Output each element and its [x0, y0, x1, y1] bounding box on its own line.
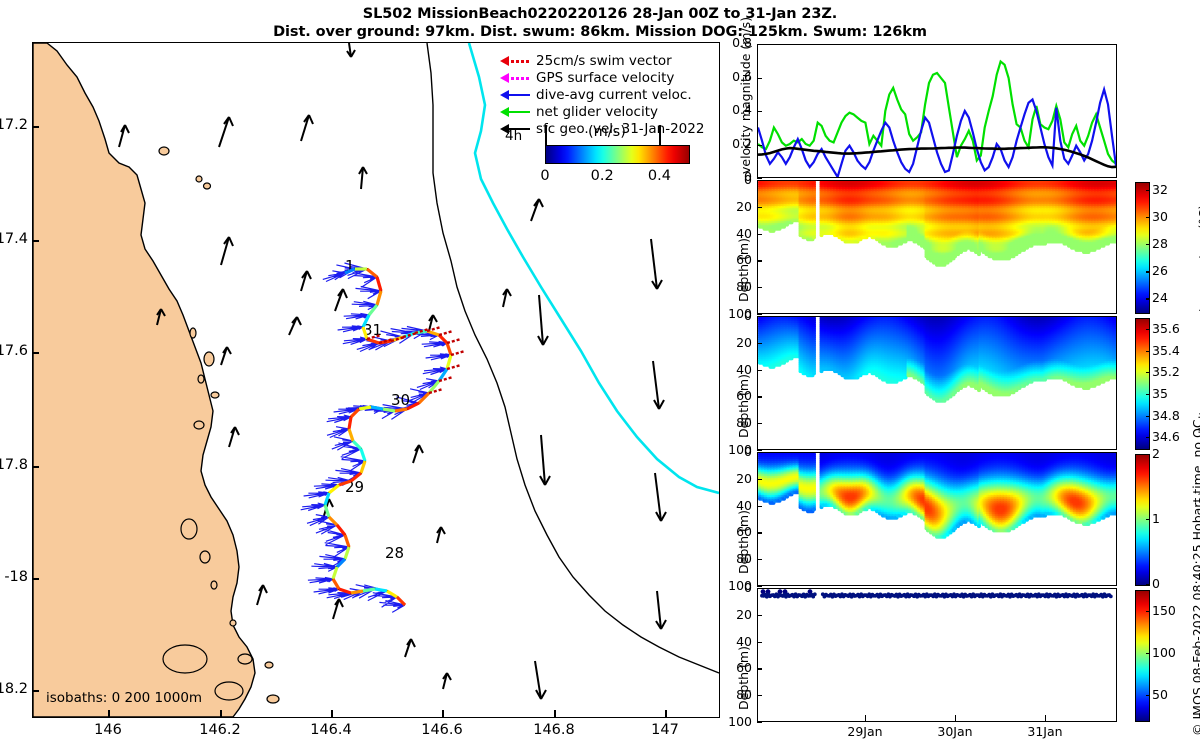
time-axis-tick-mark-2: [1045, 715, 1046, 721]
temperature-section-ytick-4: 80: [710, 279, 752, 294]
temperature-section-colorbar-tick-0: 24: [1152, 290, 1168, 305]
velocity-ytick-mark-2: [757, 111, 762, 112]
section-scatter: [758, 181, 1116, 267]
legend-item-label: 25cm/s swim vector: [532, 53, 672, 69]
map-colorbar-tick-1: 0.2: [582, 168, 622, 184]
temperature-section-colorbar-tick-4: 32: [1152, 182, 1168, 197]
chlorophyll-section-ytick-3: 60: [710, 524, 752, 539]
temperature-section-ytick-1: 20: [710, 199, 752, 214]
velocity-timeseries-plot: [758, 45, 1116, 177]
salinity-section-ytick-mark-1: [757, 343, 762, 344]
legend-arrow-icon: [500, 89, 532, 101]
chlorophyll-section-colorbar-tick-0: 0: [1152, 576, 1160, 591]
velocity-ytick-mark-4: [757, 44, 762, 45]
figure-root: SL502 MissionBeach0220220126 28-Jan 00Z …: [0, 0, 1200, 750]
map-ytick-1: 17.4: [0, 231, 28, 247]
temperature-section-ytick-3: 60: [710, 252, 752, 267]
figure-title-line1: SL502 MissionBeach0220220126 28-Jan 00Z …: [0, 6, 1200, 22]
chlorophyll-section-ytick-mark-5: [757, 586, 762, 587]
map-ytick-2: 17.6: [0, 343, 28, 359]
section-scatter: [760, 589, 1113, 598]
map-ytick-5: 18.2: [0, 681, 28, 697]
temperature-section-colorbar-tick-mark-4: [1146, 190, 1150, 191]
day-label-28: 28: [385, 544, 404, 562]
chlorophyll-section-ytick-mark-3: [757, 532, 762, 533]
velocity-ytick-3: 0.6: [712, 69, 752, 84]
legend-item-1[interactable]: GPS surface velocity: [500, 69, 700, 86]
oxygen-section-panel[interactable]: [757, 588, 1117, 722]
temperature-section-panel[interactable]: [757, 180, 1117, 314]
legend-item-2[interactable]: dive-avg current veloc.: [500, 86, 700, 103]
legend-arrow-icon: [500, 55, 532, 67]
time-axis-tick-0: 29Jan: [830, 724, 900, 739]
velocity-ytick-mark-0: [757, 178, 762, 179]
map-colorbar-pointer-0: [545, 125, 547, 145]
temperature-section-ytick-mark-5: [757, 314, 762, 315]
legend-arrow-icon: [500, 106, 532, 118]
map-ytick-4: -18: [0, 569, 28, 585]
glider-track: [301, 263, 451, 612]
map-xtick-2: 146.4: [296, 722, 366, 738]
velocity-ytick-mark-3: [757, 78, 762, 79]
legend-item-label: net glider velocity: [532, 104, 658, 120]
oxygen-section-ytick-mark-4: [757, 695, 762, 696]
isobaths-label: isobaths: 0 200 1000m: [46, 690, 202, 706]
temperature-section-colorbar-tick-1: 26: [1152, 263, 1168, 278]
temperature-section-colorbar-tick-mark-3: [1146, 217, 1150, 218]
oxygen-section-colorbar-tick-1: 100: [1152, 645, 1176, 660]
map-colorbar-tick-2: 0.4: [639, 168, 679, 184]
chlorophyll-section-colorbar-tick-mark-0: [1146, 584, 1150, 585]
temperature-section-colorbar-tick-2: 28: [1152, 236, 1168, 251]
dive-avg-current-fans: [301, 263, 451, 612]
temperature-section-plot: [758, 181, 1116, 313]
chlorophyll-section-ytick-mark-4: [757, 559, 762, 560]
map-xtick-1: 146.2: [185, 722, 255, 738]
map-colorbar-pointer-1: [659, 125, 661, 145]
salinity-section-colorbar-tick-5: 35.6: [1152, 321, 1180, 336]
section-scatter: [758, 453, 1116, 539]
velocity-ytick-1: 0.2: [712, 136, 752, 151]
temperature-section-ytick-0: 0: [710, 172, 752, 187]
salinity-section-colorbar-tick-mark-3: [1146, 372, 1150, 373]
chlorophyll-section-ytick-mark-0: [757, 452, 762, 453]
salinity-section-colorbar-tick-2: 35: [1152, 386, 1168, 401]
salinity-section-colorbar-tick-4: 35.4: [1152, 343, 1180, 358]
legend-item-label: GPS surface velocity: [532, 70, 674, 86]
oxygen-section-ytick-1: 20: [710, 607, 752, 622]
oxygen-section-ytick-mark-1: [757, 615, 762, 616]
salinity-section-colorbar-tick-mark-5: [1146, 329, 1150, 330]
chlorophyll-section-ytick-4: 80: [710, 551, 752, 566]
salinity-section-colorbar-tick-3: 35.2: [1152, 364, 1180, 379]
temperature-section-ytick-mark-3: [757, 260, 762, 261]
oxygen-section-ytick-5: 100: [710, 714, 752, 729]
legend-arrow-icon: [500, 72, 532, 84]
salinity-section-panel[interactable]: [757, 316, 1117, 450]
oxygen-section-colorbar-tick-0: 50: [1152, 687, 1168, 702]
map-xtick-4: 146.8: [519, 722, 589, 738]
oxygen-section-plot: [758, 589, 1116, 721]
oxygen-section-ytick-3: 60: [710, 660, 752, 675]
imos-credit: © IMOS 08-Feb-2022 08:40:25 Hobart time.…: [1190, 419, 1200, 736]
salinity-section-colorbar-tick-1: 34.8: [1152, 408, 1180, 423]
temperature-section-colorbar[interactable]: [1135, 182, 1150, 314]
salinity-section-colorbar[interactable]: [1135, 318, 1150, 450]
figure-title-line2: Dist. over ground: 97km. Dist. swum: 86k…: [0, 24, 1200, 40]
chlorophyll-section-ytick-mark-1: [757, 479, 762, 480]
velocity-timeseries-panel[interactable]: [757, 44, 1117, 178]
chlorophyll-section-ytick-1: 20: [710, 471, 752, 486]
map-ytick-0: 17.2: [0, 117, 28, 133]
salinity-section-ytick-mark-0: [757, 316, 762, 317]
salinity-section-ytick-2: 40: [710, 362, 752, 377]
map-ytick-3: 17.8: [0, 457, 28, 473]
salinity-section-ytick-3: 60: [710, 388, 752, 403]
salinity-section-ytick-mark-5: [757, 450, 762, 451]
oxygen-section-ytick-mark-5: [757, 722, 762, 723]
oxygen-section-colorbar-tick-mark-2: [1146, 611, 1150, 612]
temperature-section-ytick-mark-1: [757, 207, 762, 208]
time-axis-tick-1: 30Jan: [920, 724, 990, 739]
oxygen-section-ytick-mark-2: [757, 642, 762, 643]
velocity-ytick-mark-1: [757, 145, 762, 146]
salinity-section-colorbar-tick-mark-1: [1146, 416, 1150, 417]
map-xtick-5: 147: [630, 722, 700, 738]
salinity-section-ytick-4: 80: [710, 415, 752, 430]
legend-item-0[interactable]: 25cm/s swim vector: [500, 52, 700, 69]
oxygen-section-ytick-0: 0: [710, 580, 752, 595]
salinity-section-ytick-mark-3: [757, 396, 762, 397]
temperature-section-colorbar-label: temperature (°C): [1196, 205, 1200, 312]
map-xtick-0: 146: [73, 722, 143, 738]
chlorophyll-section-colorbar-tick-mark-2: [1146, 454, 1150, 455]
map-xtick-3: 146.6: [407, 722, 477, 738]
temperature-section-ytick-mark-2: [757, 234, 762, 235]
salinity-section-colorbar-tick-0: 34.6: [1152, 429, 1180, 444]
oxygen-section-ytick-mark-3: [757, 668, 762, 669]
section-scatter: [758, 317, 1116, 403]
day-label-30: 30: [391, 391, 410, 409]
salinity-section-ytick-mark-4: [757, 423, 762, 424]
oxygen-section-colorbar-tick-mark-0: [1146, 695, 1150, 696]
velocity-ytick-4: 0.8: [712, 35, 752, 50]
oxygen-section-ytick-mark-0: [757, 588, 762, 589]
land-polygon: [33, 43, 255, 717]
temperature-section-colorbar-tick-mark-0: [1146, 298, 1150, 299]
time-axis-tick-mark-0: [865, 715, 866, 721]
chlorophyll-section-ytick-mark-2: [757, 506, 762, 507]
oxygen-section-colorbar-tick-mark-1: [1146, 653, 1150, 654]
oxygen-section-ytick-4: 80: [710, 687, 752, 702]
chlorophyll-section-plot: [758, 453, 1116, 585]
temperature-section-colorbar-tick-mark-1: [1146, 271, 1150, 272]
chlorophyll-section-panel[interactable]: [757, 452, 1117, 586]
chlorophyll-section-colorbar-tick-1: 1: [1152, 511, 1160, 526]
salinity-section-colorbar-tick-mark-4: [1146, 351, 1150, 352]
temperature-section-colorbar-tick-mark-2: [1146, 244, 1150, 245]
temperature-section-colorbar-tick-3: 30: [1152, 209, 1168, 224]
legend-item-label: dive-avg current veloc.: [532, 87, 692, 103]
legend-item-3[interactable]: net glider velocity: [500, 103, 700, 120]
chlorophyll-section-ytick-2: 40: [710, 498, 752, 513]
salinity-section-ytick-0: 0: [710, 308, 752, 323]
time-axis-tick-mark-1: [955, 715, 956, 721]
chlorophyll-section-colorbar-tick-mark-1: [1146, 519, 1150, 520]
chlorophyll-section-ytick-0: 0: [710, 444, 752, 459]
salinity-section-colorbar-tick-mark-2: [1146, 394, 1150, 395]
map-colorbar-tick-0: 0: [525, 168, 565, 184]
velocity-ytick-2: 0.4: [712, 102, 752, 117]
salinity-section-plot: [758, 317, 1116, 449]
oxygen-section-ytick-2: 40: [710, 634, 752, 649]
oxygen-section-colorbar[interactable]: [1135, 590, 1150, 722]
salinity-section-ytick-mark-2: [757, 370, 762, 371]
time-axis-tick-2: 31Jan: [1010, 724, 1080, 739]
temperature-section-ytick-mark-0: [757, 180, 762, 181]
chlorophyll-section-colorbar-tick-2: 2: [1152, 446, 1160, 461]
salinity-section-ytick-1: 20: [710, 335, 752, 350]
map-colorbar-ticks: 00.20.4: [500, 135, 710, 185]
temperature-section-ytick-mark-4: [757, 287, 762, 288]
oxygen-section-colorbar-tick-2: 150: [1152, 603, 1176, 618]
salinity-section-colorbar-tick-mark-0: [1146, 437, 1150, 438]
temperature-section-ytick-2: 40: [710, 226, 752, 241]
